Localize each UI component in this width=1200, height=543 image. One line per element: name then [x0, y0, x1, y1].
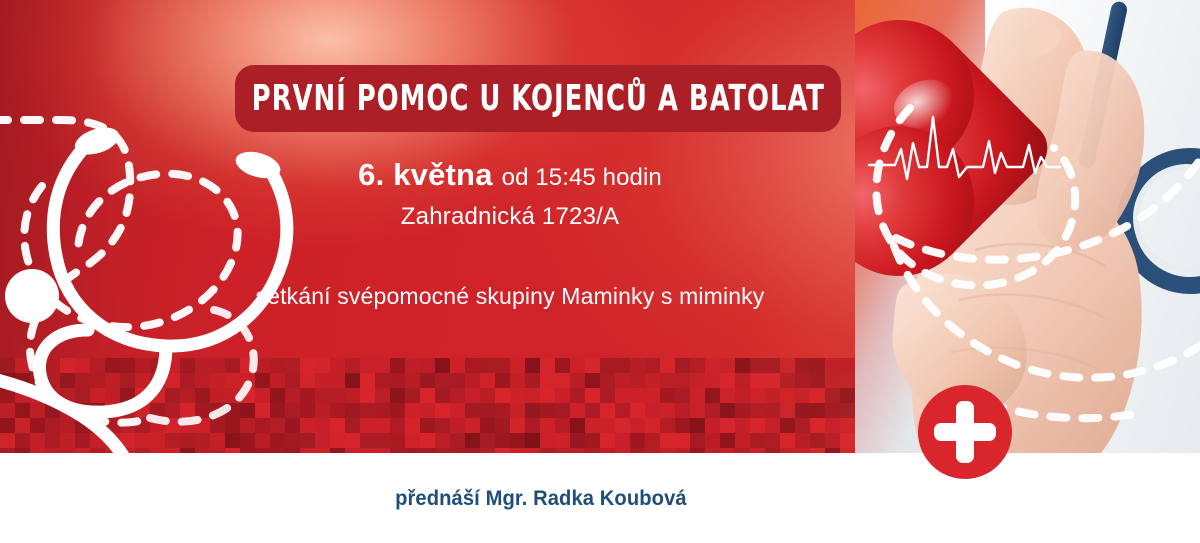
title-plate: PRVNÍ POMOC U KOJENCŮ A BATOLAT [235, 65, 841, 132]
mosaic-cell [435, 433, 450, 448]
mosaic-cell [840, 388, 855, 403]
mosaic-cell [30, 388, 45, 403]
mosaic-cell [210, 388, 225, 403]
mosaic-cell [75, 418, 90, 433]
mosaic-cell [825, 418, 840, 433]
presenter-name: přednáší Mgr. Radka Koubová [395, 487, 687, 511]
mosaic-cell [75, 358, 90, 373]
mosaic-cell [780, 358, 795, 373]
mosaic-cell [405, 418, 420, 433]
mosaic-cell [270, 403, 285, 418]
mosaic-cell [375, 433, 390, 448]
mosaic-cell [705, 418, 720, 433]
mosaic-cell [510, 433, 525, 448]
mosaic-cell [450, 403, 465, 418]
mosaic-cell [435, 418, 450, 433]
mosaic-cell [105, 403, 120, 418]
mosaic-cell [480, 358, 495, 373]
mosaic-cell [840, 403, 855, 418]
mosaic-cell [840, 433, 855, 448]
mosaic-cell [330, 358, 345, 373]
mosaic-cell [390, 373, 405, 388]
mosaic-cell [0, 373, 15, 388]
mosaic-cell [795, 433, 810, 448]
mosaic-cell [735, 403, 750, 418]
mosaic-cell [315, 373, 330, 388]
mosaic-cell [390, 418, 405, 433]
mosaic-cell [300, 358, 315, 373]
mosaic-cell [195, 373, 210, 388]
mosaic-cell [825, 373, 840, 388]
mosaic-cell [435, 403, 450, 418]
mosaic-cell [630, 433, 645, 448]
mosaic-cell [420, 388, 435, 403]
mosaic-cell [0, 433, 15, 448]
mosaic-cell [180, 433, 195, 448]
mosaic-cell [345, 388, 360, 403]
mosaic-cell [270, 433, 285, 448]
mosaic-cell [750, 418, 765, 433]
mosaic-cell [480, 373, 495, 388]
mosaic-cell [30, 403, 45, 418]
mosaic-cell [195, 433, 210, 448]
mosaic-cell [210, 433, 225, 448]
mosaic-cell [270, 388, 285, 403]
mosaic-cell [495, 403, 510, 418]
mosaic-cell [810, 388, 825, 403]
event-address: Zahradnická 1723/A [180, 199, 840, 235]
mosaic-cell [405, 388, 420, 403]
mosaic-cell [555, 373, 570, 388]
mosaic-cell [450, 418, 465, 433]
mosaic-cell [105, 433, 120, 448]
mosaic-cell [720, 418, 735, 433]
photo-hand-holding-heart [855, 0, 1200, 460]
mosaic-cell [840, 418, 855, 433]
mosaic-cell [330, 418, 345, 433]
mosaic-cell [585, 403, 600, 418]
mosaic-cell [105, 388, 120, 403]
mosaic-cell [225, 418, 240, 433]
mosaic-cell [525, 358, 540, 373]
mosaic-cell [510, 418, 525, 433]
mosaic-cell [45, 388, 60, 403]
mosaic-cell [630, 403, 645, 418]
mosaic-cell [825, 433, 840, 448]
mosaic-cell [825, 403, 840, 418]
mosaic-cell [150, 388, 165, 403]
mosaic-cell [165, 358, 180, 373]
mosaic-cell [810, 373, 825, 388]
mosaic-cell [300, 433, 315, 448]
mosaic-cell [150, 403, 165, 418]
mosaic-cell [690, 358, 705, 373]
mosaic-cell [120, 433, 135, 448]
mosaic-cell [735, 388, 750, 403]
mosaic-cell [735, 358, 750, 373]
mosaic-cell [765, 373, 780, 388]
mosaic-cell [345, 403, 360, 418]
mosaic-cell [780, 433, 795, 448]
mosaic-cell [135, 418, 150, 433]
mosaic-cell [150, 373, 165, 388]
mosaic-cell [450, 388, 465, 403]
mosaic-cell [480, 433, 495, 448]
mosaic-cell [600, 403, 615, 418]
mosaic-cell [450, 433, 465, 448]
mosaic-cell [780, 418, 795, 433]
mosaic-cell [255, 418, 270, 433]
mosaic-cell [315, 388, 330, 403]
mosaic-cell [750, 358, 765, 373]
mosaic-cell [765, 388, 780, 403]
mosaic-cell [195, 403, 210, 418]
mosaic-cell [15, 418, 30, 433]
mosaic-cell [60, 388, 75, 403]
mosaic-cell [690, 403, 705, 418]
mosaic-cell [60, 403, 75, 418]
mosaic-cell [720, 403, 735, 418]
mosaic-cell [660, 418, 675, 433]
mosaic-cell [495, 418, 510, 433]
mosaic-cell [300, 403, 315, 418]
mosaic-cell [465, 433, 480, 448]
mosaic-cell [540, 373, 555, 388]
mosaic-cell [645, 418, 660, 433]
event-time: od 15:45 hodin [502, 164, 662, 191]
mosaic-cell [600, 373, 615, 388]
medical-cross-icon [918, 385, 1012, 479]
mosaic-cell [675, 403, 690, 418]
mosaic-cell [135, 388, 150, 403]
mosaic-cell [30, 373, 45, 388]
mosaic-cell [225, 388, 240, 403]
mosaic-cell [390, 358, 405, 373]
mosaic-cell [120, 403, 135, 418]
mosaic-cell [90, 418, 105, 433]
mosaic-cell [480, 418, 495, 433]
mosaic-cell [495, 358, 510, 373]
mosaic-cell [585, 418, 600, 433]
mosaic-cell [780, 403, 795, 418]
mosaic-cell [705, 358, 720, 373]
mosaic-cell [795, 388, 810, 403]
mosaic-cell [480, 403, 495, 418]
mosaic-cell [690, 373, 705, 388]
mosaic-cell [690, 433, 705, 448]
mosaic-cell [735, 418, 750, 433]
mosaic-cell [75, 373, 90, 388]
mosaic-cell [30, 358, 45, 373]
mosaic-cell [105, 418, 120, 433]
mosaic-cell [420, 358, 435, 373]
mosaic-cell [600, 418, 615, 433]
mosaic-cell [330, 403, 345, 418]
mosaic-cell [75, 433, 90, 448]
mosaic-cell [630, 418, 645, 433]
mosaic-cell [690, 418, 705, 433]
mosaic-cell [90, 403, 105, 418]
mosaic-cell [525, 433, 540, 448]
mosaic-cell [570, 388, 585, 403]
footer: přednáší Mgr. Radka Koubová [0, 487, 1082, 511]
mosaic-cell [810, 418, 825, 433]
mosaic-cell [810, 403, 825, 418]
mosaic-cell [240, 403, 255, 418]
mosaic-cell [720, 433, 735, 448]
mosaic-cell [510, 373, 525, 388]
mosaic-cell [360, 358, 375, 373]
mosaic-cell [570, 373, 585, 388]
mosaic-cell [45, 403, 60, 418]
mosaic-cell [375, 403, 390, 418]
mosaic-cell [135, 433, 150, 448]
mosaic-cell [450, 358, 465, 373]
mosaic-cell [780, 388, 795, 403]
mosaic-cell [600, 388, 615, 403]
mosaic-cell [645, 373, 660, 388]
mosaic-cell [810, 433, 825, 448]
mosaic-cell [690, 388, 705, 403]
mosaic-cell [45, 373, 60, 388]
mosaic-cell [15, 403, 30, 418]
mosaic-cell [150, 418, 165, 433]
mosaic-cell [795, 373, 810, 388]
mosaic-cell [615, 418, 630, 433]
event-details: 6. květnaod 15:45 hodin Zahradnická 1723… [180, 155, 840, 310]
mosaic-cell [750, 388, 765, 403]
mosaic-cell [345, 373, 360, 388]
mosaic-cell [615, 358, 630, 373]
mosaic-cell [795, 403, 810, 418]
mosaic-cell [255, 373, 270, 388]
mosaic-cell [165, 373, 180, 388]
mosaic-cell [300, 388, 315, 403]
mosaic-cell [825, 388, 840, 403]
mosaic-cell [150, 433, 165, 448]
mosaic-cell [30, 433, 45, 448]
mosaic-cell [315, 358, 330, 373]
mosaic-cell [615, 433, 630, 448]
mosaic-cell [570, 358, 585, 373]
mosaic-cell [375, 358, 390, 373]
mosaic-cell [210, 373, 225, 388]
mosaic-cell [450, 373, 465, 388]
mosaic-cell [360, 388, 375, 403]
mosaic-cell [225, 373, 240, 388]
mosaic-cell [315, 433, 330, 448]
mosaic-cell [345, 418, 360, 433]
page-title: PRVNÍ POMOC U KOJENCŮ A BATOLAT [251, 78, 824, 119]
mosaic-cell [810, 358, 825, 373]
mosaic-cell [75, 403, 90, 418]
mosaic-cell [660, 373, 675, 388]
mosaic-cell [675, 388, 690, 403]
mosaic-cell [525, 373, 540, 388]
heart-icon [867, 55, 1062, 260]
mosaic-cell [225, 358, 240, 373]
mosaic-cell [735, 433, 750, 448]
mosaic-cell [75, 388, 90, 403]
mosaic-cell [345, 358, 360, 373]
mosaic-cell [195, 388, 210, 403]
mosaic-cell [390, 403, 405, 418]
mosaic-cell [510, 358, 525, 373]
mosaic-cell [525, 403, 540, 418]
mosaic-cell [480, 388, 495, 403]
mosaic-cell [45, 433, 60, 448]
mosaic-cell [285, 433, 300, 448]
mosaic-cell [210, 418, 225, 433]
mosaic-cell [60, 433, 75, 448]
mosaic-cell [795, 418, 810, 433]
mosaic-cell [105, 358, 120, 373]
mosaic-cell [630, 358, 645, 373]
mosaic-cell [405, 358, 420, 373]
mosaic-cell [585, 388, 600, 403]
mosaic-cell [420, 418, 435, 433]
mosaic-cell [0, 388, 15, 403]
mosaic-cell [285, 388, 300, 403]
mosaic-cell [720, 358, 735, 373]
mosaic-cell [195, 358, 210, 373]
mosaic-cell [510, 403, 525, 418]
mosaic-cell [120, 358, 135, 373]
mosaic-cell [300, 373, 315, 388]
mosaic-cell [285, 403, 300, 418]
mosaic-cell [150, 358, 165, 373]
mosaic-cell [165, 388, 180, 403]
mosaic-cell [465, 418, 480, 433]
mosaic-cell [375, 418, 390, 433]
mosaic-cell [555, 418, 570, 433]
mosaic-cell [615, 373, 630, 388]
mosaic-cell [90, 433, 105, 448]
mosaic-cell [465, 373, 480, 388]
mosaic-cell [495, 388, 510, 403]
mosaic-cell [360, 373, 375, 388]
mosaic-cell [540, 388, 555, 403]
mosaic-cell [330, 388, 345, 403]
mosaic-cell [705, 403, 720, 418]
mosaic-cell [645, 388, 660, 403]
mosaic-cell [555, 388, 570, 403]
mosaic-cell [180, 403, 195, 418]
mosaic-cell [750, 403, 765, 418]
mosaic-cell [30, 418, 45, 433]
mosaic-cell [705, 433, 720, 448]
mosaic-cell [45, 418, 60, 433]
mosaic-cell [165, 433, 180, 448]
mosaic-cell [420, 403, 435, 418]
mosaic-cell [540, 403, 555, 418]
mosaic-cell [540, 418, 555, 433]
mosaic-cell [270, 418, 285, 433]
mosaic-cell [315, 403, 330, 418]
mosaic-cell [660, 433, 675, 448]
mosaic-cell [240, 418, 255, 433]
event-subtitle: setkání svépomocné skupiny Maminky s mim… [180, 283, 840, 310]
mosaic-cell [600, 358, 615, 373]
mosaic-cell [840, 358, 855, 373]
mosaic-cell [240, 433, 255, 448]
mosaic-cell [765, 418, 780, 433]
mosaic-cell [240, 358, 255, 373]
first-aid-event-banner: PRVNÍ POMOC U KOJENCŮ A BATOLAT 6. květn… [0, 0, 1200, 543]
mosaic-cell [0, 418, 15, 433]
mosaic-cell [555, 403, 570, 418]
mosaic-cell [390, 388, 405, 403]
mosaic-cell [675, 418, 690, 433]
mosaic-cell [465, 388, 480, 403]
mosaic-cell [240, 373, 255, 388]
mosaic-cell [225, 403, 240, 418]
mosaic-cell [120, 418, 135, 433]
mosaic-cell [510, 388, 525, 403]
mosaic-cell [180, 373, 195, 388]
mosaic-cell [570, 418, 585, 433]
mosaic-cell [720, 388, 735, 403]
mosaic-cell [165, 403, 180, 418]
mosaic-cell [750, 433, 765, 448]
mosaic-cell [210, 403, 225, 418]
mosaic-cell [60, 418, 75, 433]
mosaic-cell [390, 433, 405, 448]
mosaic-cell [645, 403, 660, 418]
mosaic-cell [60, 373, 75, 388]
mosaic-cell [765, 433, 780, 448]
mosaic-cell [15, 433, 30, 448]
mosaic-cell [405, 403, 420, 418]
mosaic-cell [255, 403, 270, 418]
mosaic-cell [360, 433, 375, 448]
mosaic-cell [0, 403, 15, 418]
mosaic-cell [105, 373, 120, 388]
mosaic-cell [660, 388, 675, 403]
mosaic-cell [15, 388, 30, 403]
mosaic-cell [0, 358, 15, 373]
mosaic-cell [705, 388, 720, 403]
mosaic-cell [90, 373, 105, 388]
mosaic-cell [495, 433, 510, 448]
mosaic-cell [600, 433, 615, 448]
mosaic-cell [120, 388, 135, 403]
mosaic-cell [255, 358, 270, 373]
mosaic-cell [435, 388, 450, 403]
mosaic-cell [240, 388, 255, 403]
mosaic-cell [360, 403, 375, 418]
mosaic-cell [495, 373, 510, 388]
mosaic-cell [135, 373, 150, 388]
mosaic-cell [420, 373, 435, 388]
medical-cross-bar-vertical [956, 401, 974, 463]
mosaic-cell [615, 403, 630, 418]
mosaic-cell [675, 358, 690, 373]
mosaic-cell [300, 418, 315, 433]
mosaic-cell [180, 418, 195, 433]
mosaic-cell [285, 358, 300, 373]
mosaic-cell [270, 373, 285, 388]
event-date: 6. května [358, 157, 493, 192]
mosaic-cell [165, 418, 180, 433]
mosaic-cell [375, 373, 390, 388]
mosaic-cell [585, 373, 600, 388]
mosaic-cell [120, 373, 135, 388]
mosaic-cell [45, 358, 60, 373]
mosaic-cell [210, 358, 225, 373]
mosaic-cell [285, 418, 300, 433]
mosaic-cell [465, 403, 480, 418]
